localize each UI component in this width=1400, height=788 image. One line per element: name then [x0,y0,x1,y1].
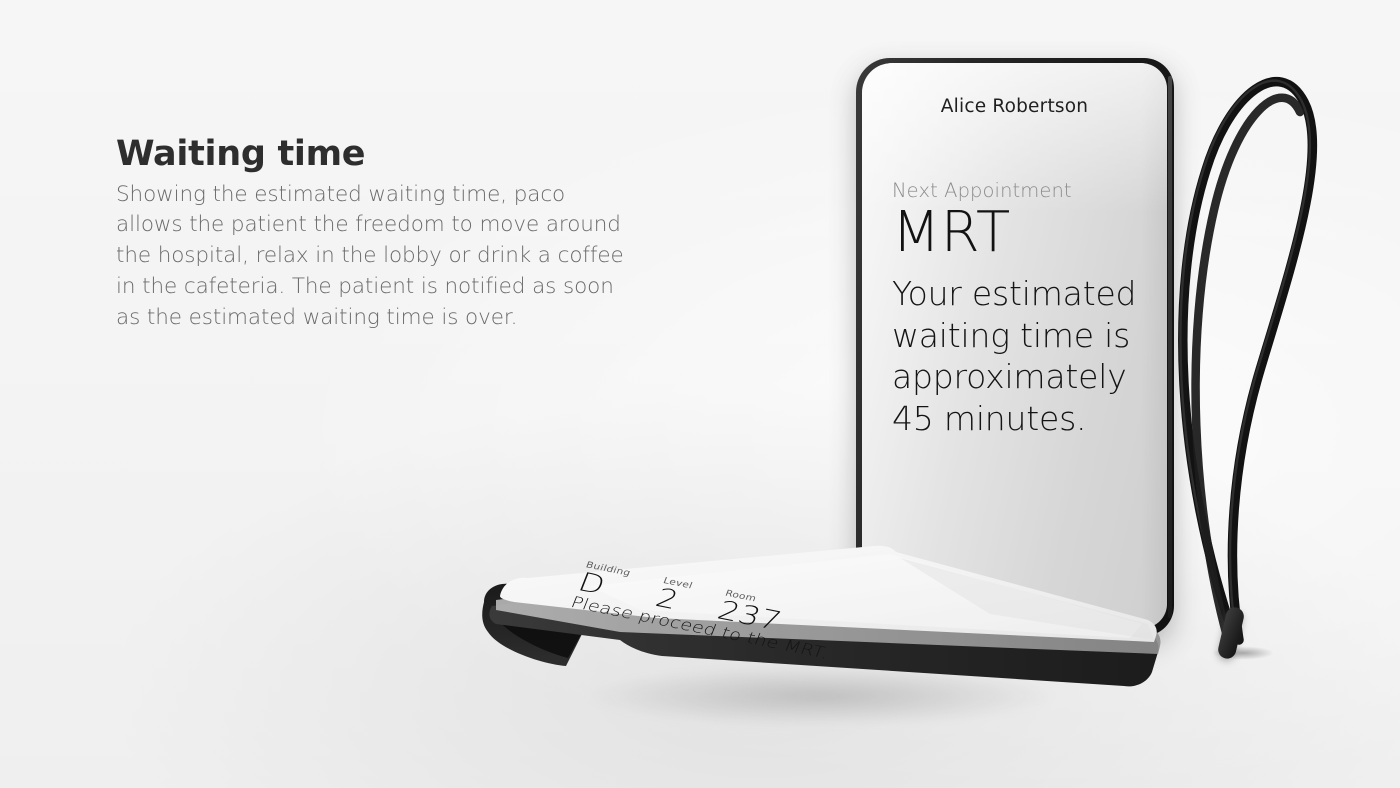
article-copy: Waiting time Showing the estimated waiti… [116,136,636,333]
cord-loop-icon [1180,81,1312,640]
appointment-title: MRT [892,204,1158,261]
bezel-highlight [1168,76,1172,618]
next-appointment-label: Next Appointment [892,179,1158,202]
waiting-time-message: Your estimated waiting time is approxima… [892,273,1158,439]
page-title: Waiting time [116,136,636,173]
screen-content: Next Appointment MRT Your estimated wait… [892,179,1158,439]
patient-name: Alice Robertson [862,96,1167,117]
tilted-device[interactable]: Building D Level 2 Room 237 Please proce… [470,540,1190,750]
article-body: Showing the estimated waiting time, paco… [116,180,636,334]
clip-shadow [1202,644,1284,662]
